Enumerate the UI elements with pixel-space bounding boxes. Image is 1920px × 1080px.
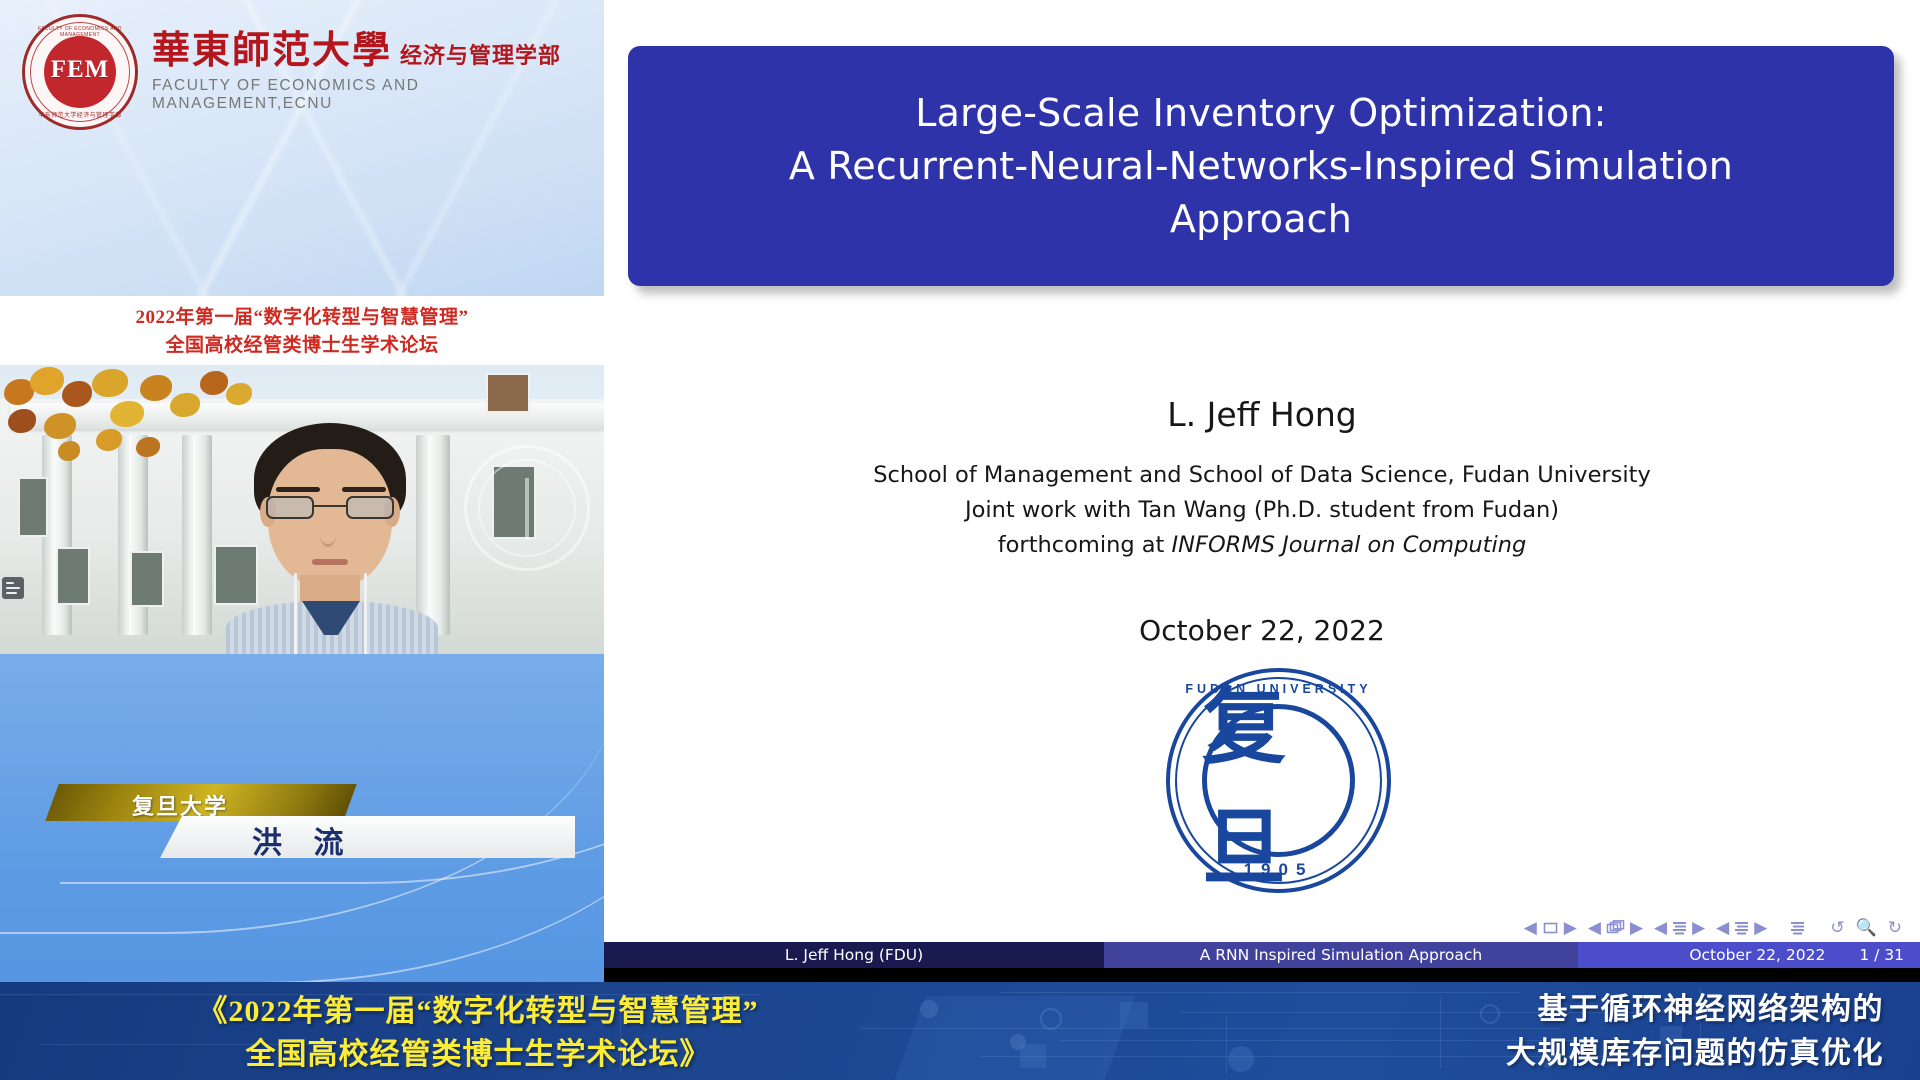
banner-right-text: 基于循环神经网络架构的 大规模库存问题的仿真优化 xyxy=(1204,988,1884,1076)
affiliation-line3: forthcoming at INFORMS Journal on Comput… xyxy=(604,528,1920,563)
university-name-cn: 華東師范大學 xyxy=(152,31,392,73)
forthcoming-label: forthcoming at xyxy=(998,532,1172,558)
search-icon[interactable]: 🔍 xyxy=(1856,918,1877,938)
journal-name: INFORMS Journal on Computing xyxy=(1172,532,1527,558)
affiliation-line1: School of Management and School of Data … xyxy=(604,458,1920,493)
footer-date: October 22, 2022 xyxy=(1689,946,1825,964)
fudan-seal-arc-top: FUDAN UNIVERSITY xyxy=(1166,682,1391,696)
prev-subsection-arrow-icon[interactable]: ◀ xyxy=(1654,918,1667,938)
forward-icon[interactable]: ↻ xyxy=(1888,918,1902,938)
next-slide-arrow-icon[interactable]: ▶ xyxy=(1564,918,1577,938)
screen: FACULTY OF ECONOMICS AND MANAGEMENT FEM … xyxy=(0,0,1920,1080)
presentation-slide[interactable]: Large-Scale Inventory Optimization: A Re… xyxy=(604,0,1920,968)
slide-title-box: Large-Scale Inventory Optimization: A Re… xyxy=(628,46,1894,286)
slide-title-line1: Large-Scale Inventory Optimization: xyxy=(789,87,1733,140)
fem-seal-arc-bottom: 华东师范大学经济与管理学部 xyxy=(22,110,138,119)
document-icon[interactable] xyxy=(1790,921,1805,936)
prev-section-arrow-icon[interactable]: ◀ xyxy=(1716,918,1729,938)
webcam-feed[interactable] xyxy=(0,365,604,654)
footer-right: October 22, 2022 1 / 31 xyxy=(1578,942,1920,968)
forum-caption-line1: 2022年第一届“数字化转型与智慧管理” xyxy=(0,304,604,332)
faculty-name-cn: 经济与管理学部 xyxy=(400,44,561,68)
forum-caption-line2: 全国高校经管类博士生学术论坛 xyxy=(0,332,604,360)
slide-title-line3: Approach xyxy=(789,193,1733,246)
footer-author: L. Jeff Hong (FDU) xyxy=(604,942,1104,968)
speaker-video-image xyxy=(232,423,428,654)
speaker-nameplate: 复旦大学 洪 流 xyxy=(52,784,582,850)
video-panel[interactable]: FACULTY OF ECONOMICS AND MANAGEMENT FEM … xyxy=(0,0,604,1080)
back-icon[interactable]: ↺ xyxy=(1830,918,1844,938)
affiliation-line2: Joint work with Tan Wang (Ph.D. student … xyxy=(604,493,1920,528)
frames-icon xyxy=(1606,920,1625,936)
next-frame-arrow-icon[interactable]: ▶ xyxy=(1630,918,1643,938)
frame-nav-group[interactable]: ◀ ▶ xyxy=(1588,918,1643,938)
beamer-navigation-bar[interactable]: ◀ ▶ ◀ ▶ ◀ ▶ ◀ xyxy=(1524,918,1902,938)
prev-frame-arrow-icon[interactable]: ◀ xyxy=(1588,918,1601,938)
fem-seal-arc-top: FACULTY OF ECONOMICS AND MANAGEMENT xyxy=(22,26,138,38)
banner-left-line1: 《2022年第一届“数字化转型与智慧管理” xyxy=(38,990,918,1033)
banner-left-line2: 全国高校经管类博士生学术论坛》 xyxy=(38,1033,918,1076)
logo-text: 華東師范大學 经济与管理学部 FACULTY OF ECONOMICS AND … xyxy=(152,31,604,114)
banner-left-text: 《2022年第一届“数字化转型与智慧管理” 全国高校经管类博士生学术论坛》 xyxy=(38,990,918,1076)
event-banner: 《2022年第一届“数字化转型与智慧管理” 全国高校经管类博士生学术论坛》 基于… xyxy=(0,982,1920,1080)
footer-page-number: 1 / 31 xyxy=(1859,946,1904,964)
slide-icon xyxy=(1542,921,1559,935)
fem-seal-text: FEM xyxy=(22,56,138,84)
university-logo-band: FACULTY OF ECONOMICS AND MANAGEMENT FEM … xyxy=(0,0,604,296)
banner-right-line2: 大规模库存问题的仿真优化 xyxy=(1204,1032,1884,1076)
slide-author: L. Jeff Hong xyxy=(604,395,1920,434)
section-icon xyxy=(1734,921,1749,936)
forum-caption: 2022年第一届“数字化转型与智慧管理” 全国高校经管类博士生学术论坛 xyxy=(0,296,604,372)
subsection-nav-group[interactable]: ◀ ▶ xyxy=(1654,918,1705,938)
prev-slide-arrow-icon[interactable]: ◀ xyxy=(1524,918,1537,938)
slide-affiliation: School of Management and School of Data … xyxy=(604,458,1920,563)
slide-title-line2: A Recurrent-Neural-Networks-Inspired Sim… xyxy=(789,140,1733,193)
fudan-university-seal-icon: 复旦 FUDAN UNIVERSITY 1905 xyxy=(1166,668,1391,893)
fudan-seal-arc-bottom: 1905 xyxy=(1166,860,1391,880)
fudan-seal-center: 复旦 xyxy=(1202,704,1355,857)
section-nav-group[interactable]: ◀ ▶ xyxy=(1716,918,1767,938)
next-subsection-arrow-icon[interactable]: ▶ xyxy=(1692,918,1705,938)
beamer-footer: L. Jeff Hong (FDU) A RNN Inspired Simula… xyxy=(604,942,1920,968)
ecnu-watermark-icon xyxy=(464,445,590,571)
next-section-arrow-icon[interactable]: ▶ xyxy=(1754,918,1767,938)
fem-seal-icon: FACULTY OF ECONOMICS AND MANAGEMENT FEM … xyxy=(22,14,138,130)
slide-nav-group[interactable]: ◀ ▶ xyxy=(1524,918,1577,938)
slide-date: October 22, 2022 xyxy=(604,614,1920,647)
banner-right-line1: 基于循环神经网络架构的 xyxy=(1204,988,1884,1032)
footer-title: A RNN Inspired Simulation Approach xyxy=(1104,942,1578,968)
logo-row: FACULTY OF ECONOMICS AND MANAGEMENT FEM … xyxy=(22,14,604,130)
subsection-icon xyxy=(1672,921,1687,936)
faculty-name-en: FACULTY OF ECONOMICS AND MANAGEMENT,ECNU xyxy=(152,77,604,113)
list-icon[interactable] xyxy=(2,577,24,599)
nameplate-speaker-name: 洪 流 xyxy=(252,818,356,862)
